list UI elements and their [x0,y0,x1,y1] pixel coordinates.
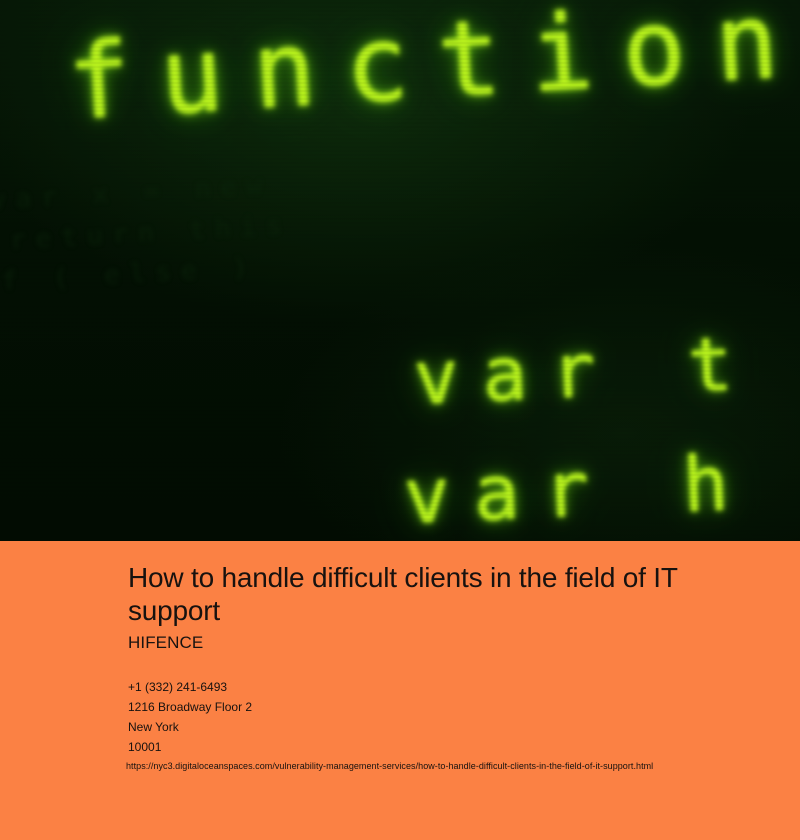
code-line-var-t: var t [412,320,758,421]
article-info-panel: How to handle difficult clients in the f… [0,541,800,840]
source-url[interactable]: https://nyc3.digitaloceanspaces.com/vuln… [126,760,653,772]
contact-postal-code: 10001 [128,737,252,757]
code-line-function: function [64,0,800,144]
contact-phone: +1 (332) 241-6493 [128,677,252,697]
ghost-code-line: if ( else ) [0,252,259,298]
article-cover-page: var x = new return this if ( else ) func… [0,0,800,840]
ghost-code-line: var x = new [0,170,273,216]
brand-name: HIFENCE [128,633,203,653]
ghost-code-line: return this [9,210,292,256]
contact-details: +1 (332) 241-6493 1216 Broadway Floor 2 … [128,677,252,757]
contact-street: 1216 Broadway Floor 2 [128,697,252,717]
hero-image: var x = new return this if ( else ) func… [0,0,800,541]
code-line-var-h: var h [402,437,754,541]
page-title: How to handle difficult clients in the f… [128,561,728,627]
contact-city: New York [128,717,252,737]
